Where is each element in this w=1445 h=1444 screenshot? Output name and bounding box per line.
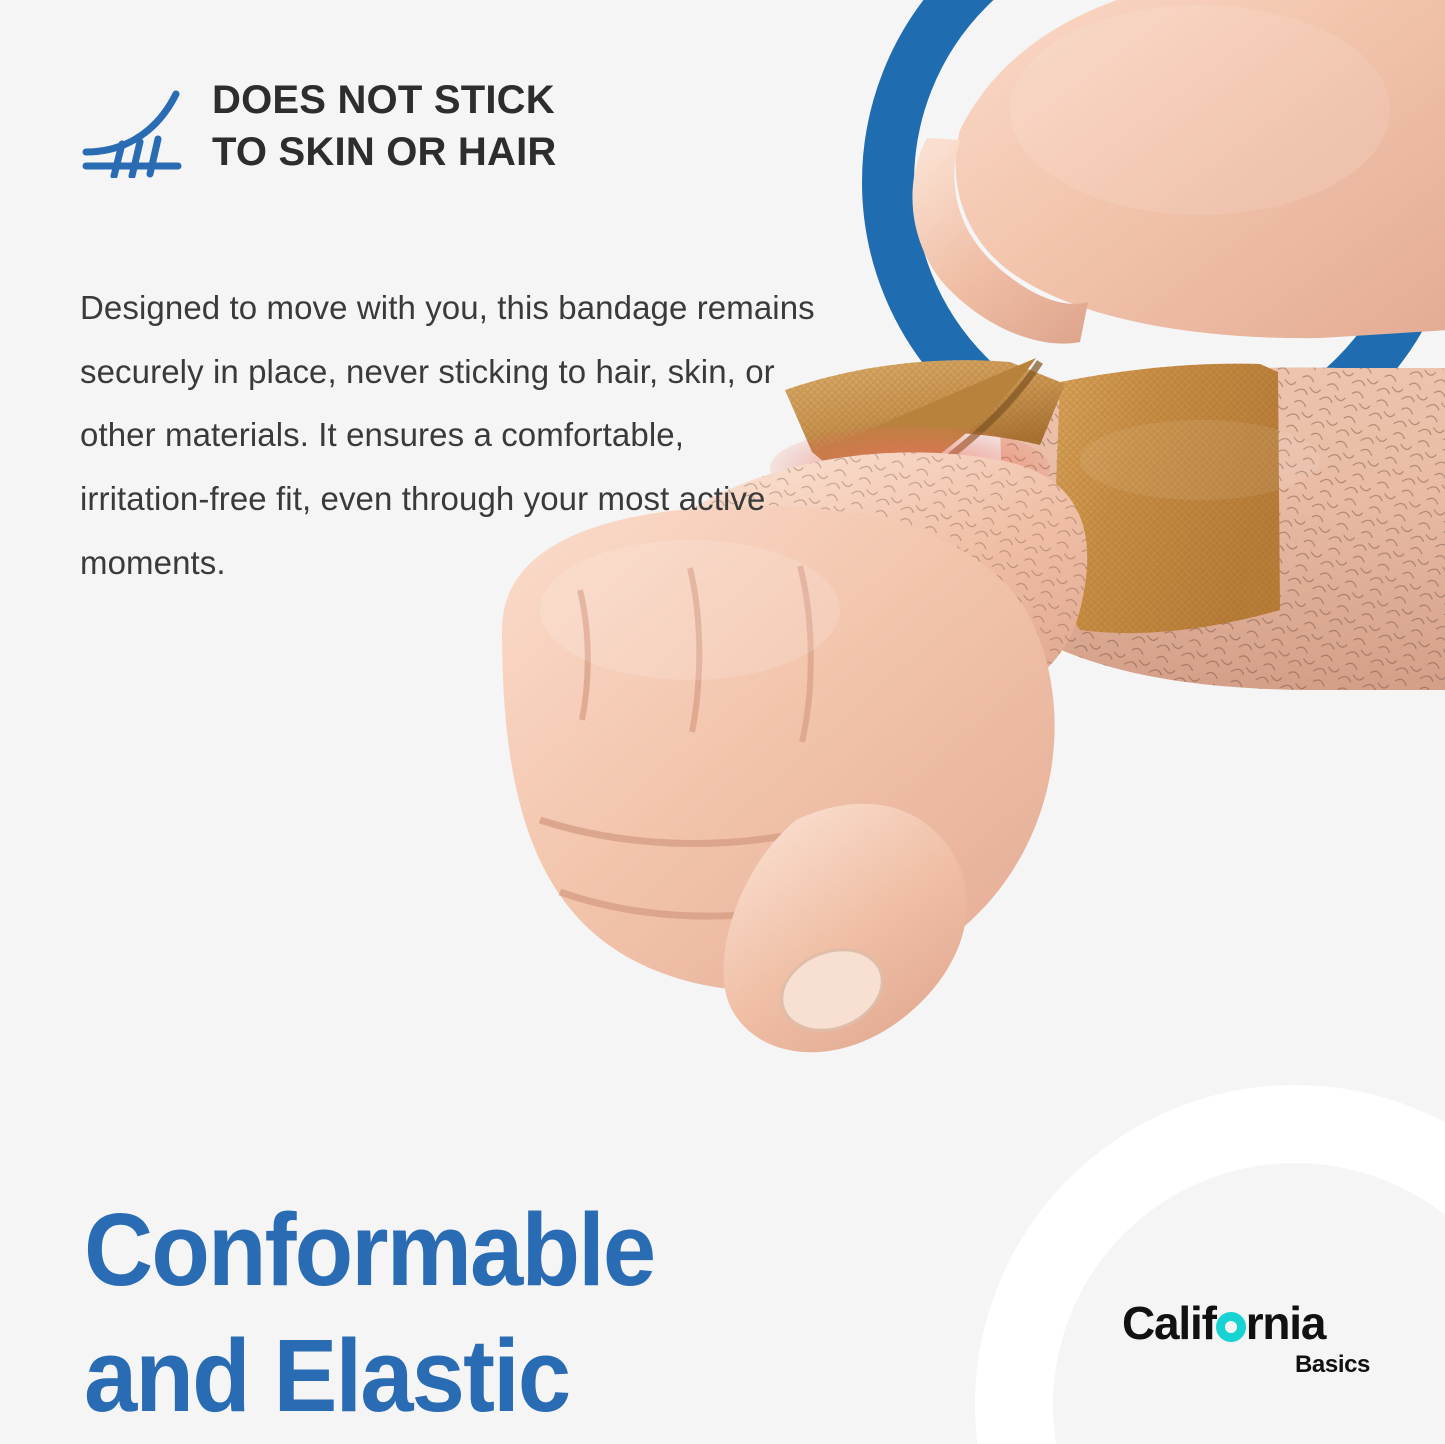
white-decorative-ring: [975, 1085, 1445, 1444]
logo-o-letter: [1216, 1312, 1246, 1342]
logo-subtitle: Basics: [1122, 1353, 1370, 1377]
brand-logo: Califrnia Basics: [1122, 1300, 1370, 1377]
feature-description: Designed to move with you, this bandage …: [80, 276, 815, 594]
headline: Conformable and Elastic: [84, 1187, 654, 1438]
feature-title: DOES NOT STICK TO SKIN OR HAIR: [212, 74, 557, 178]
logo-word-part-2: rnia: [1246, 1297, 1326, 1349]
feature-heading-block: DOES NOT STICK TO SKIN OR HAIR: [78, 74, 778, 178]
logo-word-part-1: Calif: [1122, 1297, 1216, 1349]
product-feature-graphic: DOES NOT STICK TO SKIN OR HAIR Designed …: [0, 0, 1445, 1444]
blue-decorative-ring: [862, 0, 1445, 482]
logo-wordmark: Califrnia: [1122, 1300, 1370, 1346]
teal-o-ring-icon: [1216, 1312, 1246, 1342]
no-stick-hair-icon: [78, 82, 186, 178]
